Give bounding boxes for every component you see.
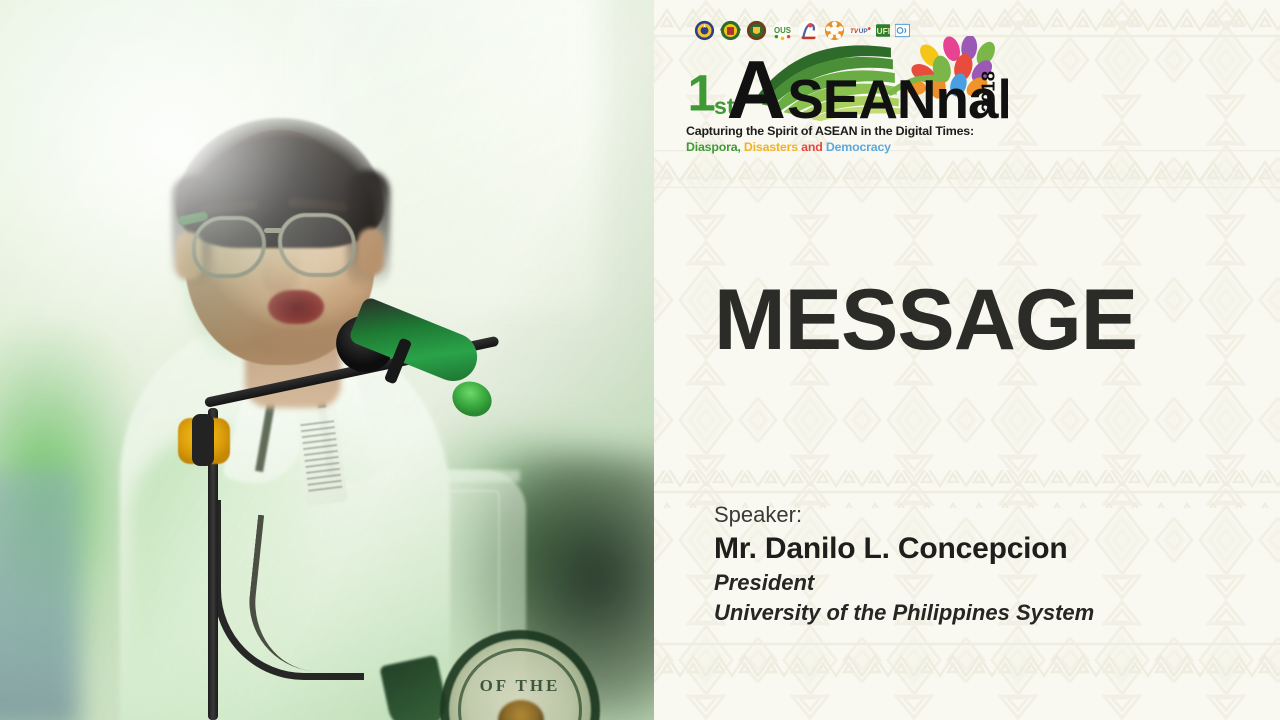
svg-text:UFI: UFI: [876, 25, 890, 35]
speaker-organization: University of the Philippines System: [714, 598, 1254, 627]
speaker-name: Mr. Danilo L. Concepcion: [714, 530, 1254, 568]
event-tagline-line-1: Capturing the Spirit of ASEAN in the Dig…: [686, 124, 974, 138]
speaker-label: Speaker:: [714, 500, 1254, 530]
svg-text:2018: 2018: [978, 71, 999, 112]
photo-blue-shape-left: [0, 470, 80, 720]
speaker-ear-right: [358, 228, 384, 276]
title-card-slide: OF THE: [0, 0, 1280, 720]
speaker-credits: Speaker: Mr. Danilo L. Concepcion Presid…: [714, 500, 1254, 627]
tagline-word-disasters: Disasters: [744, 140, 798, 154]
event-logo: OUS TV: [678, 12, 1008, 160]
svg-text:UP: UP: [859, 27, 869, 34]
svg-text:TV: TV: [850, 27, 859, 34]
svg-text:SEANnale: SEANnale: [787, 68, 1008, 126]
photo-green-tint-on-face: [185, 150, 315, 365]
tagline-word-democracy: Democracy: [826, 140, 891, 154]
event-tagline-line-2: Diaspora, Disasters and Democracy: [686, 140, 891, 154]
aseannale-wordmark: 1 st A SEANnale 2018: [678, 36, 1008, 126]
svg-text:OUS: OUS: [774, 26, 791, 35]
page-title: MESSAGE: [714, 277, 1137, 363]
svg-text:A: A: [727, 45, 786, 126]
svg-text:1: 1: [687, 64, 715, 121]
institutional-seal-text: OF THE: [455, 676, 585, 696]
speaker-photo: OF THE: [0, 0, 654, 720]
tagline-word-and: and: [801, 140, 822, 154]
speaker-role: President: [714, 568, 1254, 597]
info-panel: OUS TV: [654, 0, 1280, 720]
tagline-word-diaspora: Diaspora,: [686, 140, 741, 154]
microphone-clamp-bolt: [192, 414, 214, 466]
